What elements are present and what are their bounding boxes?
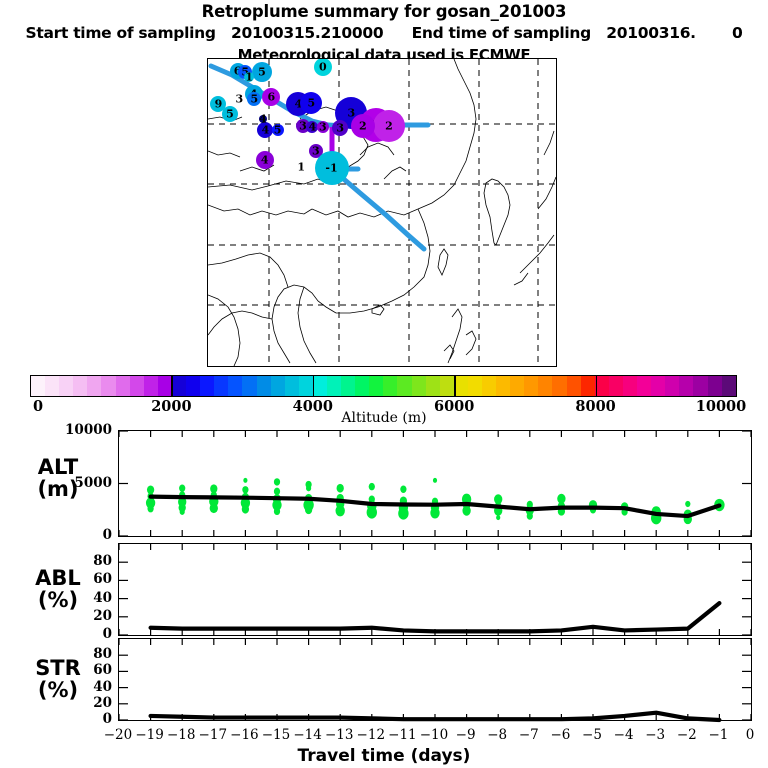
colorbar-swatch (186, 376, 200, 396)
x-tick-label: −6 (550, 727, 570, 743)
y-tick-label: 0 (103, 711, 112, 727)
x-tick-label: −4 (614, 727, 634, 743)
alt-plot-panel[interactable] (118, 430, 752, 537)
colorbar-swatch (665, 376, 679, 396)
map-marker-label: 5 (308, 97, 316, 108)
x-tick-label: −18 (167, 727, 196, 743)
y-tick-label: 0 (103, 527, 112, 543)
colorbar-swatch (524, 376, 538, 396)
colorbar-swatch (158, 376, 172, 396)
start-time-label: Start time of sampling (26, 24, 216, 42)
map-marker-label: -1 (325, 163, 337, 174)
colorbar-swatch (637, 376, 651, 396)
abl-plot-svg (119, 544, 751, 635)
x-tick-label: −7 (519, 727, 539, 743)
colorbar-swatch (722, 376, 736, 396)
colorbar-swatch (355, 376, 369, 396)
colorbar-swatch (412, 376, 426, 396)
colorbar-swatch (299, 376, 313, 396)
y-tick-label: 20 (93, 695, 112, 711)
colorbar-swatch (242, 376, 256, 396)
y-tick-label: 80 (93, 553, 112, 569)
map-marker-label: 3 (319, 122, 327, 133)
colorbar-swatch (87, 376, 101, 396)
y-tick-label: 20 (93, 608, 112, 624)
colorbar-swatch (538, 376, 552, 396)
retroplume-map[interactable]: 065514563954545433432223431-1 (207, 58, 557, 367)
colorbar-swatch (327, 376, 341, 396)
colorbar-swatch (271, 376, 285, 396)
map-marker-label: 6 (268, 91, 276, 102)
colorbar-swatch (708, 376, 722, 396)
colorbar-swatch (130, 376, 144, 396)
colorbar-swatch (45, 376, 59, 396)
abl-plot-panel[interactable] (118, 543, 752, 636)
page-title: Retroplume summary for gosan_201003 (0, 2, 768, 21)
map-marker-label: 4 (262, 125, 270, 136)
colorbar-swatch (285, 376, 299, 396)
end-time-value: 20100316. (606, 24, 695, 42)
colorbar-swatch (552, 376, 566, 396)
map-marker-label: 0 (319, 62, 327, 73)
colorbar-swatch (510, 376, 524, 396)
str-plot-panel[interactable] (118, 638, 752, 721)
colorbar-separator (454, 375, 456, 397)
colorbar-swatch (693, 376, 707, 396)
colorbar-swatch (581, 376, 595, 396)
map-marker-label: 3 (336, 123, 344, 134)
map-marker-label: 2 (385, 120, 393, 131)
x-tick-label: −9 (456, 727, 476, 743)
x-tick-label: −3 (645, 727, 665, 743)
y-tick-label: 0 (103, 626, 112, 642)
map-marker-label: 3 (235, 93, 243, 104)
y-tick-label: 10000 (65, 422, 112, 438)
colorbar-swatch (440, 376, 454, 396)
altitude-colorbar (30, 375, 737, 397)
colorbar-swatch (496, 376, 510, 396)
colorbar-swatch (454, 376, 468, 396)
x-tick-label: −8 (487, 727, 507, 743)
alt-plot-svg (119, 431, 751, 536)
map-marker-label: 4 (309, 121, 317, 132)
colorbar-swatch (679, 376, 693, 396)
x-tick-label: −2 (677, 727, 697, 743)
colorbar-swatch (144, 376, 158, 396)
colorbar-swatch (623, 376, 637, 396)
map-marker-label: 1 (297, 162, 305, 173)
colorbar-swatch (214, 376, 228, 396)
colorbar-swatch (482, 376, 496, 396)
colorbar-swatch (228, 376, 242, 396)
colorbar-swatch (59, 376, 73, 396)
map-marker-label: 1 (245, 72, 253, 83)
colorbar-swatch (257, 376, 271, 396)
y-tick-label: 5000 (74, 475, 112, 491)
y-tick-label: 80 (93, 646, 112, 662)
end-time-extra: 0 (732, 24, 743, 42)
x-tick-label: −13 (325, 727, 354, 743)
y-tick-label: 60 (93, 662, 112, 678)
x-tick-label: −14 (293, 727, 322, 743)
x-tick-label: −16 (230, 727, 259, 743)
colorbar-swatch (31, 376, 45, 396)
colorbar-swatch (567, 376, 581, 396)
x-tick-label: −17 (199, 727, 228, 743)
x-tick-label: 0 (746, 727, 755, 743)
y-tick-label: 40 (93, 679, 112, 695)
map-coastlines-svg (208, 59, 556, 366)
x-tick-label: −5 (582, 727, 602, 743)
colorbar-separator (596, 375, 598, 397)
colorbar-swatch (200, 376, 214, 396)
map-marker-label: 5 (274, 124, 282, 135)
colorbar-swatch (397, 376, 411, 396)
map-marker-label: 2 (359, 120, 367, 131)
colorbar-separator (313, 375, 315, 397)
x-tick-label: −1 (708, 727, 728, 743)
colorbar-swatch (651, 376, 665, 396)
x-tick-label: −19 (135, 727, 164, 743)
trajectory-tail (332, 169, 424, 249)
colorbar-swatch (609, 376, 623, 396)
colorbar-swatch (468, 376, 482, 396)
map-marker-label: 3 (312, 146, 320, 157)
colorbar-swatch (313, 376, 327, 396)
map-marker-label: 9 (215, 99, 223, 110)
map-marker-label: 5 (258, 66, 266, 77)
x-tick-label: −20 (104, 727, 133, 743)
end-time-label: End time of sampling (412, 24, 591, 42)
colorbar-swatch (341, 376, 355, 396)
map-marker-label: 4 (261, 155, 269, 166)
x-tick-label: −10 (420, 727, 449, 743)
colorbar-swatch (369, 376, 383, 396)
colorbar-swatch (73, 376, 87, 396)
x-tick-label: −11 (388, 727, 417, 743)
map-marker-label: 4 (259, 114, 267, 125)
colorbar-separator (171, 375, 173, 397)
colorbar-swatch (426, 376, 440, 396)
map-marker-label: 5 (250, 93, 258, 104)
y-tick-label: 60 (93, 571, 112, 587)
x-tick-label: −12 (357, 727, 386, 743)
sampling-time-header: Start time of sampling 20100315.210000 E… (0, 24, 768, 42)
colorbar-axis-label: Altitude (m) (0, 410, 768, 426)
x-axis-tick-labels: −20−19−18−17−16−15−14−13−12−11−10−9−8−7−… (118, 727, 752, 747)
colorbar-swatch (172, 376, 186, 396)
x-axis-title: Travel time (days) (0, 746, 768, 766)
start-time-value: 20100315.210000 (231, 24, 383, 42)
colorbar-swatch (101, 376, 115, 396)
colorbar-swatch (116, 376, 130, 396)
str-plot-svg (119, 639, 751, 720)
colorbar-swatch (383, 376, 397, 396)
y-tick-label: 40 (93, 590, 112, 606)
map-marker-label: 5 (226, 109, 234, 120)
x-tick-label: −15 (262, 727, 291, 743)
